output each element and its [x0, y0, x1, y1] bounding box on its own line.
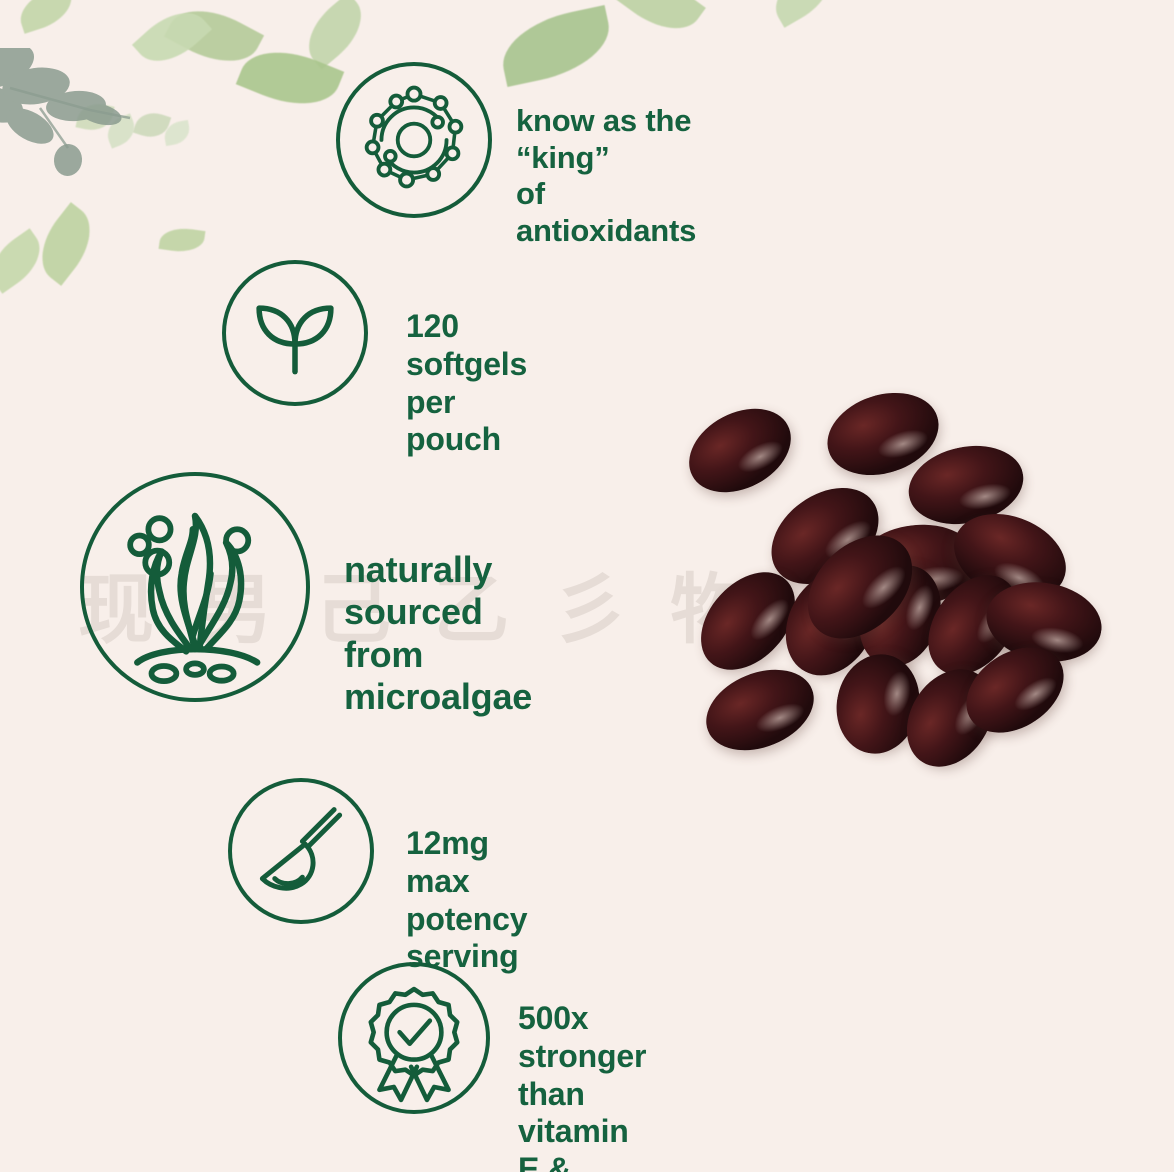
benefit-label: 120 softgels per pouch	[406, 308, 527, 459]
sprout-icon	[222, 260, 368, 406]
leaf-shape	[102, 113, 140, 148]
leaf-shape	[236, 36, 344, 120]
leaf-shape	[162, 120, 191, 146]
leaf-shape	[164, 0, 264, 78]
benefit-label: 12mg max potency serving	[406, 825, 527, 976]
leaf-shape	[26, 202, 105, 286]
algae-icon	[80, 472, 310, 702]
leaf-shape	[14, 0, 78, 34]
molecule-icon	[336, 62, 492, 218]
benefit-label: naturally sourced from microalgae	[344, 549, 532, 719]
benefit-label: know as the “king” of antioxidants	[516, 103, 696, 249]
leaf-shape	[159, 225, 206, 255]
benefit-label: 500x stronger than vitamin E & 6,000x st…	[518, 1000, 646, 1172]
leaf-shape	[295, 0, 376, 70]
leaf-shape	[133, 108, 171, 143]
leaf-shape	[0, 228, 51, 294]
product-benefits-infographic: 现 男 己 乙 彡 物 ク	[0, 0, 1174, 1172]
spoon-icon	[228, 778, 374, 924]
leaf-shape	[75, 100, 114, 134]
olive-branch-icon	[0, 48, 210, 198]
astaxanthin-softgel-capsules	[680, 395, 1100, 785]
leaf-shape	[764, 0, 841, 28]
leaf-shape	[132, 0, 212, 76]
leaf-shape	[495, 5, 617, 87]
award-ribbon-icon	[338, 962, 490, 1114]
leaf-shape	[614, 0, 706, 45]
